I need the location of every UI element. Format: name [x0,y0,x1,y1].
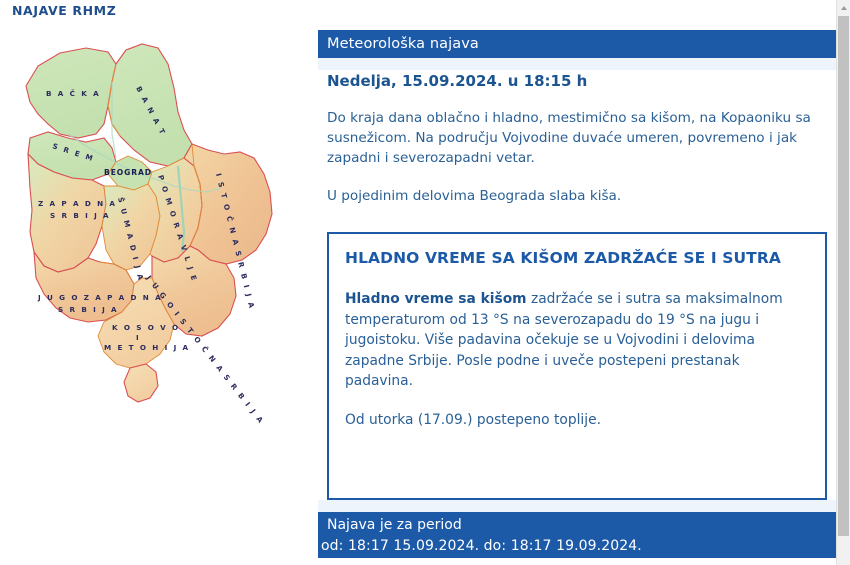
serbia-map[interactable]: B A Č K A B A N A T S R E M BEOGRAD Z A … [8,38,308,468]
intro-body: Do kraja dana oblačno i hladno, mestimič… [327,108,827,224]
map-label-backa: B A Č K A [46,89,101,98]
footer-period-label: Najava je za period [318,512,836,536]
map-region-south-tip [124,364,158,402]
intro-paragraph-2: U pojedinim delovima Beograda slaba kiša… [327,186,827,206]
meteorological-bulletin: Meteorološka najava Nedelja, 15.09.2024.… [318,0,836,565]
map-label-kosovo: K O S O V O [112,323,180,332]
highlight-lead-paragraph: Hladno vreme sa kišom zadržaće se i sutr… [345,289,809,392]
scrollbar-thumb[interactable] [838,16,849,536]
page-root: NAJAVE RHMZ [0,0,836,565]
map-label-kosovo-2: I [136,333,141,342]
header-underband [318,58,836,70]
highlight-box: HLADNO VREME SA KIŠOM ZADRŽAĆE SE I SUTR… [327,232,827,500]
bulletin-header-title: Meteorološka najava [318,36,479,52]
map-label-jugozapadna-srbija-2: S R B I J A [58,305,119,314]
issued-datetime: Nedelja, 15.09.2024. u 18:15 h [327,72,827,90]
chevron-up-icon[interactable] [837,0,850,15]
highlight-lead-bold: Hladno vreme sa kišom [345,291,527,307]
page-title: NAJAVE RHMZ [12,3,116,18]
map-label-kosovo-3: M E T O H I J A [104,343,190,352]
map-label-zapadna-srbija-2: S R B I J A [50,211,111,220]
bulletin-header-bar: Meteorološka najava [318,30,836,58]
intro-paragraph-1: Do kraja dana oblačno i hladno, mestimič… [327,108,827,168]
map-label-zapadna-srbija: Z A P A D N A [38,199,117,208]
highlight-title: HLADNO VREME SA KIŠOM ZADRŽAĆE SE I SUTR… [345,248,809,269]
vertical-scrollbar[interactable] [836,0,850,565]
bulletin-footer-bar: Najava je za period od: 18:17 15.09.2024… [318,512,836,558]
footer-gap-band [318,500,836,512]
map-label-jugozapadna-srbija: J U G O Z A P A D N A [37,293,163,302]
map-column: NAJAVE RHMZ [0,0,312,565]
map-label-beograd: BEOGRAD [104,168,152,177]
footer-period-range: od: 18:17 15.09.2024. do: 18:17 19.09.20… [318,536,836,557]
highlight-closing-paragraph: Od utorka (17.09.) postepeno toplije. [345,410,809,431]
